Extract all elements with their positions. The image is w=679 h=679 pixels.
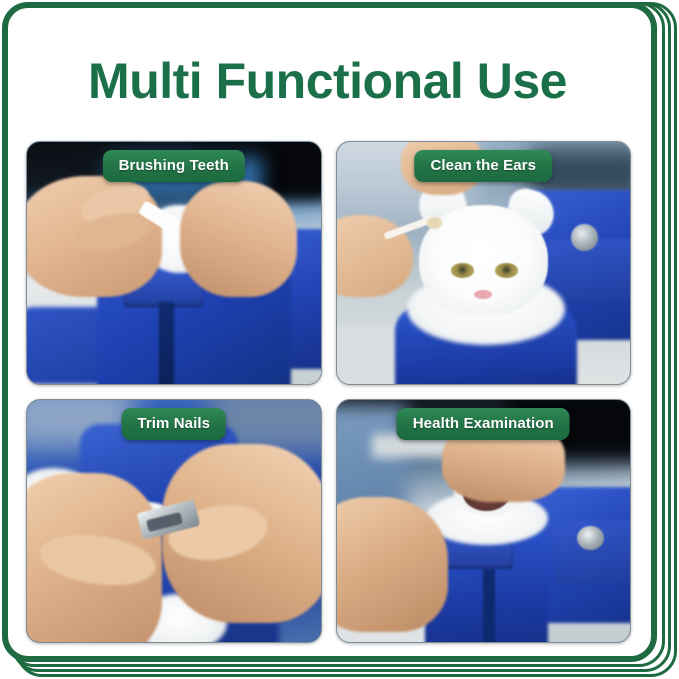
feature-panel-health-examination[interactable]: Health Examination (336, 399, 632, 643)
panel-label-brushing-teeth: Brushing Teeth (103, 150, 245, 182)
panel-label-trim-nails: Trim Nails (121, 408, 226, 440)
panel-label-clean-the-ears: Clean the Ears (414, 150, 552, 182)
page-title: Multi Functional Use (0, 52, 655, 110)
panel-label-health-examination: Health Examination (397, 408, 570, 440)
feature-panel-trim-nails[interactable]: Trim Nails (26, 399, 322, 643)
feature-grid: Brushing Teeth (26, 141, 631, 643)
feature-panel-clean-the-ears[interactable]: Clean the Ears (336, 141, 632, 385)
poster: Multi Functional Use Brushing (0, 0, 679, 679)
feature-panel-brushing-teeth[interactable]: Brushing Teeth (26, 141, 322, 385)
